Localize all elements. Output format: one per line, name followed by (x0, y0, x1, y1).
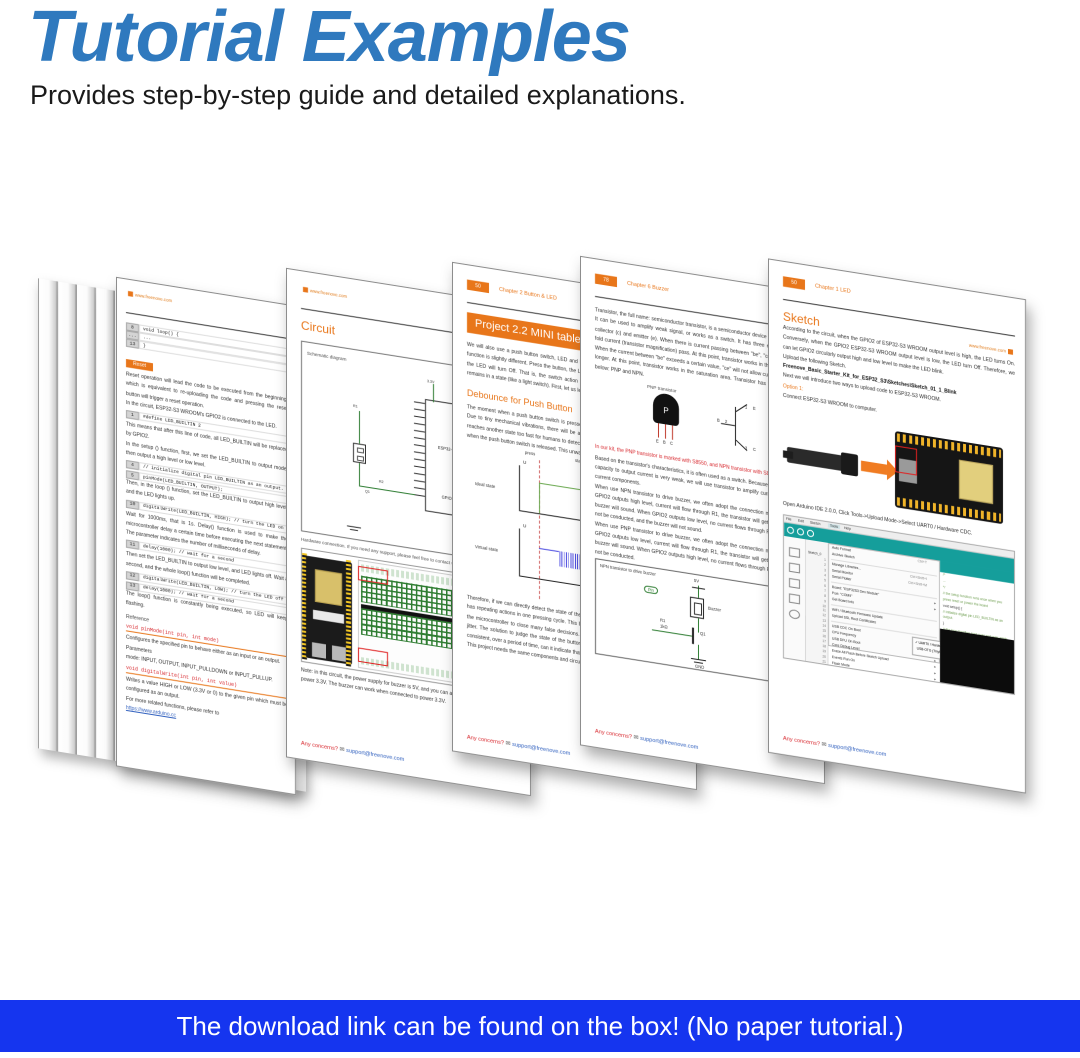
envelope-icon: ✉ (634, 735, 639, 742)
net-label-r1: R1 (660, 617, 665, 623)
ide-console-output (940, 629, 1014, 694)
transistor-leg (658, 423, 659, 438)
wire (698, 618, 699, 632)
symbol-num-2: 2 (725, 418, 727, 423)
orange-square-icon (1008, 349, 1013, 355)
symbol-label-e: E (753, 405, 756, 411)
code-line-number: 4 (126, 460, 139, 470)
schematic-wire (359, 411, 360, 444)
boards-manager-icon[interactable] (789, 562, 800, 573)
usb-plug (841, 452, 858, 476)
usb-port (332, 645, 346, 661)
chip-pin (414, 430, 425, 433)
wifi-shield (315, 569, 342, 606)
transistor-leg (672, 425, 673, 440)
axis-label: U (523, 460, 526, 466)
row-label: Virtual state (475, 544, 498, 553)
debug-button[interactable] (807, 529, 814, 537)
ground-symbol (347, 525, 361, 528)
library-manager-icon[interactable] (789, 578, 800, 589)
chapter-label: Chapter 2 Button & LED (499, 287, 557, 302)
highlight-box (895, 445, 917, 475)
footer-question: Any concerns? (783, 736, 820, 748)
chip-pin (414, 473, 425, 476)
brand-label: www.freenove.com (303, 287, 347, 299)
page-subtitle: Provides step-by-step guide and detailed… (30, 80, 686, 111)
code-line-number: 10 (126, 499, 139, 509)
orange-square-icon (128, 291, 133, 297)
footer-email[interactable]: support@freenove.com (640, 736, 698, 751)
page-number-badge: 50 (783, 276, 805, 290)
wifi-shield (959, 459, 993, 504)
page-sheet (38, 278, 57, 751)
reset-tag: Reset (126, 359, 153, 371)
download-link-banner: The download link can be found on the bo… (0, 1000, 1080, 1052)
chip-pin (414, 494, 425, 497)
axis-label: U (523, 523, 526, 529)
symbol-label-c: C (753, 446, 756, 452)
pin-header-right (346, 560, 351, 667)
waveform-col-label: press (525, 450, 535, 457)
net-label: Q1 (365, 489, 370, 494)
symbol-num-3: 3 (745, 445, 747, 450)
net-label-buzzer: Buzzer (708, 605, 721, 612)
buzzer-body (694, 602, 702, 616)
brand-label: www.freenove.com (969, 343, 1013, 355)
code-line-number: 11 (126, 540, 139, 550)
page-sheet (76, 284, 95, 757)
output-tab[interactable]: Output (812, 667, 828, 677)
wire (652, 629, 692, 636)
chip-pin (414, 487, 425, 490)
chip-pin (414, 437, 425, 440)
buzzer-symbol (690, 596, 704, 619)
ide-line-gutter: Sketch_0 1 2 3 4 5 6 7 8 9 10 11 12 13 1… (806, 539, 828, 664)
sketchbook-icon[interactable] (789, 547, 800, 558)
symbol-label-b: B (717, 417, 720, 423)
net-label: 3.3V (427, 379, 434, 384)
footer-email[interactable]: support@freenove.com (828, 743, 886, 758)
debug-icon[interactable] (789, 593, 800, 604)
banner-text: The download link can be found on the bo… (176, 1011, 903, 1042)
wire (698, 644, 699, 658)
chip-pin (414, 408, 425, 411)
page-number-badge: 50 (467, 279, 489, 293)
pin-label-e: E (656, 438, 659, 444)
chip-pin (414, 480, 425, 483)
chip-pin (414, 466, 425, 469)
waveform-axis (519, 465, 520, 510)
pnp-symbol: 1 E 2 B 3 C (721, 400, 761, 453)
chip-pin (414, 401, 425, 404)
figure-caption: PNP transistor (647, 383, 677, 393)
schematic-wire (433, 384, 434, 403)
net-label: R1 (353, 404, 358, 409)
envelope-icon: ✉ (340, 747, 345, 754)
virtual-waveform-flat (539, 548, 559, 552)
menu-file[interactable]: File (786, 517, 791, 522)
net-label-gnd: GND (695, 663, 704, 670)
doc-footer: Any concerns? ✉ support@freenove.com (301, 739, 404, 763)
tutorial-page-sketch[interactable]: 50 Chapter 1 LED Sketch www.freenove.com… (768, 258, 1026, 793)
chip-strip (313, 610, 344, 624)
chip-pin (414, 458, 425, 461)
page-sheet (95, 288, 114, 761)
transistor-package: P (653, 392, 679, 427)
chip-pin (414, 451, 425, 454)
orange-square-icon (303, 287, 308, 293)
chip-pin (414, 423, 425, 426)
doc-footer: Any concerns? ✉ support@freenove.com (595, 727, 698, 751)
menu-item[interactable]: Partition Scheme▸ (829, 690, 939, 695)
usb-port (312, 642, 326, 658)
header: Tutorial Examples Provides step-by-step … (0, 0, 1080, 130)
arrow-right-icon (861, 460, 887, 474)
doc-footer: Any concerns? ✉ support@freenove.com (467, 733, 570, 757)
menu-item[interactable]: USB Firmware MSC On Boot▸ (829, 678, 939, 695)
chip-pin (414, 416, 425, 419)
chapter-label: Chapter 6 Buzzer (627, 281, 669, 294)
arduino-ide-screenshot[interactable]: File Edit Sketch Tools Help (783, 514, 1015, 695)
code-line-number: 1 (126, 410, 139, 420)
footer-question: Any concerns? (467, 734, 504, 746)
page-number-badge: 78 (595, 273, 617, 287)
esp32-board (895, 431, 1003, 524)
search-icon[interactable] (789, 609, 800, 620)
waveform-axis (519, 528, 520, 575)
code-line-number: 12 (126, 571, 139, 581)
usb-connection-figure (783, 401, 1015, 537)
footer-email[interactable]: support@freenove.com (346, 748, 404, 763)
footer-question: Any concerns? (301, 740, 338, 752)
doc-footer: Any concerns? ✉ support@freenove.com (783, 735, 886, 759)
envelope-icon: ✉ (506, 741, 511, 748)
tutorial-page-code-reference[interactable]: www.freenove.com 8void loop() { ...... 1… (116, 277, 296, 795)
chapter-label: Chapter 1 LED (815, 283, 851, 295)
schematic-wire (359, 463, 360, 486)
brand-label: www.freenove.com (128, 291, 172, 303)
code-line-number: 13 (126, 339, 139, 349)
net-label-pin: Pin (644, 585, 658, 594)
footer-email[interactable]: support@freenove.com (512, 742, 570, 757)
footer-question: Any concerns? (595, 728, 632, 740)
chip-pin (414, 444, 425, 447)
upload-button[interactable] (797, 528, 804, 536)
schematic-switch (353, 443, 366, 464)
transistor-bar (692, 627, 694, 644)
page-sheet (57, 281, 76, 754)
tutorial-pages-stage: www.freenove.com 8void loop() { ...... 1… (0, 160, 1080, 990)
menu-edit[interactable]: Edit (798, 519, 804, 524)
net-label-5v: 5V (694, 577, 699, 583)
net-label: R2 (379, 479, 384, 484)
page-title: Tutorial Examples (28, 0, 630, 78)
symbol-num-1: 1 (745, 404, 747, 409)
menu-tools[interactable]: Tools (828, 523, 840, 529)
verify-button[interactable] (787, 526, 794, 534)
envelope-icon: ✉ (822, 742, 827, 749)
pin-label-b: B (663, 439, 666, 445)
row-label: Ideal state (475, 481, 495, 489)
menu-sketch[interactable]: Sketch (810, 520, 820, 526)
transistor-leg (665, 424, 666, 439)
symbol-base-lead (721, 423, 735, 426)
net-label-r1-value: 1kΩ (660, 623, 668, 629)
menu-help[interactable]: Help (844, 526, 851, 531)
net-label-q1: Q1 (700, 630, 706, 636)
pin-label-c: C (670, 440, 673, 446)
ide-sidebar[interactable] (784, 536, 806, 661)
menu-item[interactable]: JTAG Adapter▸ (829, 684, 939, 695)
